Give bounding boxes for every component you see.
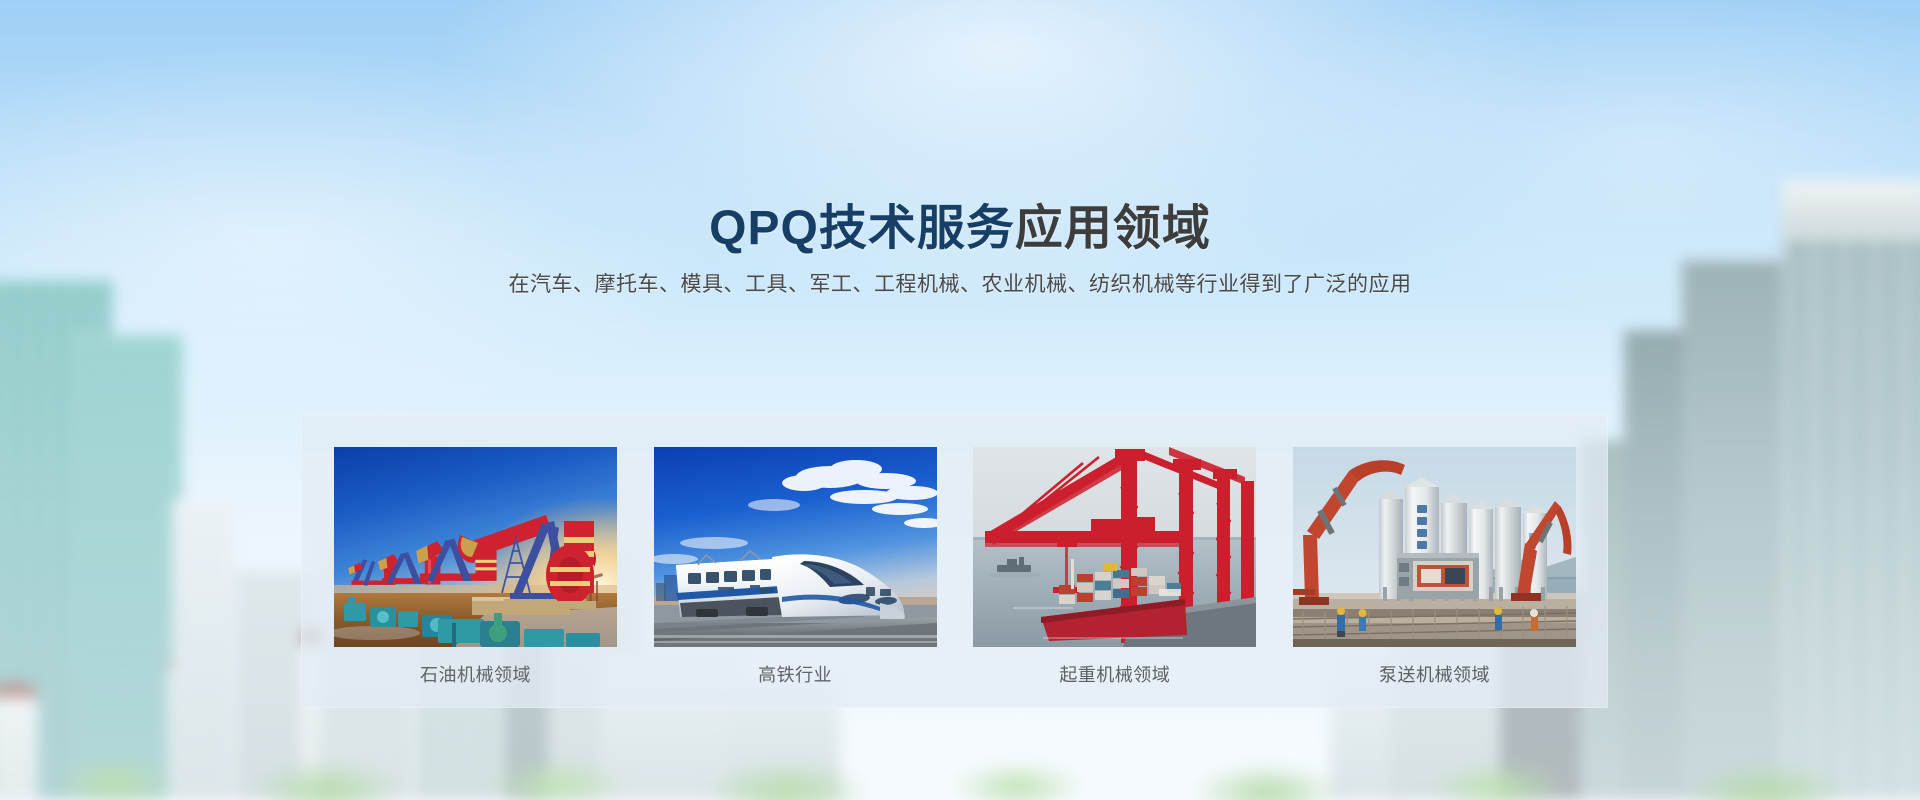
high-speed-train-photo[interactable] bbox=[654, 447, 937, 647]
page-subtitle: 在汽车、摩托车、模具、工具、军工、工程机械、农业机械、纺织机械等行业得到了广泛的… bbox=[0, 268, 1920, 298]
concrete-pump-photo[interactable] bbox=[1293, 447, 1576, 647]
list-item[interactable]: 泵送机械领域 bbox=[1293, 447, 1576, 677]
concrete-pump-illustration bbox=[1293, 447, 1576, 647]
application-card-list: 石油机械领域 bbox=[334, 447, 1576, 677]
port-gantry-crane-photo[interactable] bbox=[973, 447, 1256, 647]
hero-section: QPQ技术服务应用领域 在汽车、摩托车、模具、工具、军工、工程机械、农业机械、纺… bbox=[0, 0, 1920, 800]
page-title-accent: QPQ技术服务 bbox=[709, 202, 1015, 255]
high-speed-train-illustration bbox=[654, 447, 937, 647]
page-title: QPQ技术服务应用领域 bbox=[0, 188, 1920, 258]
list-item[interactable]: 高铁行业 bbox=[654, 447, 937, 677]
oil-pumpjack-photo[interactable] bbox=[334, 447, 617, 647]
list-item[interactable]: 石油机械领域 bbox=[334, 447, 617, 677]
oil-pumpjack-illustration bbox=[334, 447, 617, 647]
list-item[interactable]: 起重机械领域 bbox=[973, 447, 1256, 677]
port-gantry-crane-illustration bbox=[973, 447, 1256, 647]
card-caption: 高铁行业 bbox=[654, 661, 937, 687]
card-caption: 起重机械领域 bbox=[973, 661, 1256, 687]
page-title-rest: 应用领域 bbox=[1015, 202, 1211, 255]
card-caption: 泵送机械领域 bbox=[1293, 661, 1576, 687]
card-caption: 石油机械领域 bbox=[334, 661, 617, 687]
